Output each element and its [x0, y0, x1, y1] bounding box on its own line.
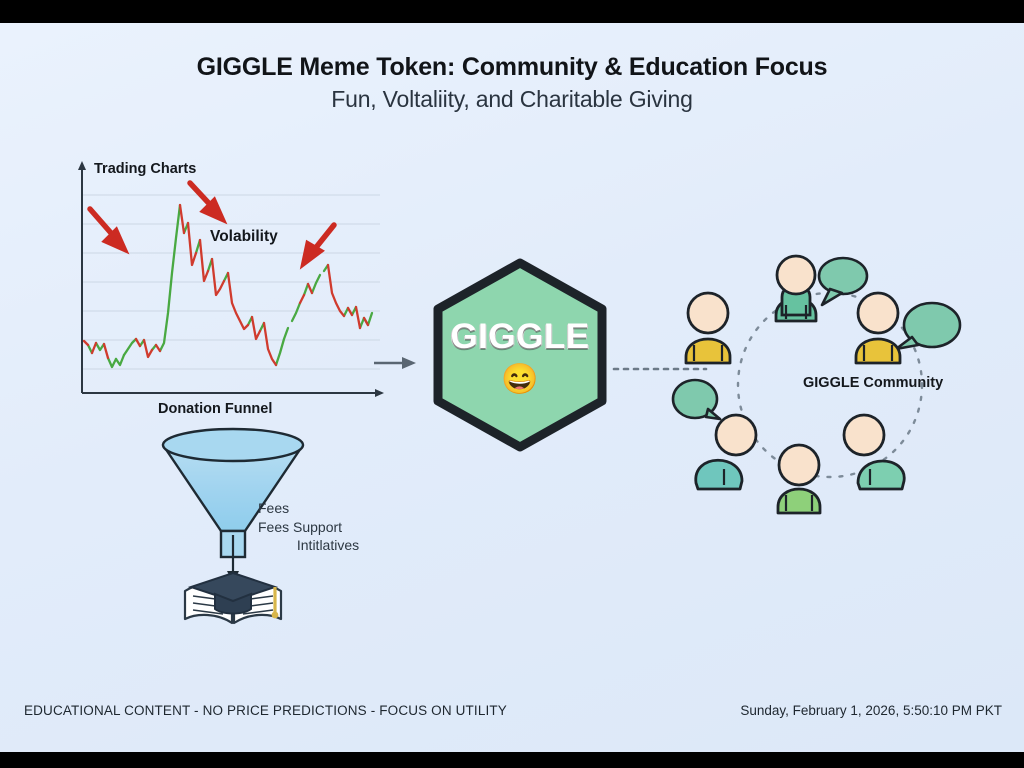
speech-bubble-right: [896, 303, 960, 349]
funnel-note-line-2: Fees Support: [258, 518, 398, 537]
community-member-bottom: [778, 445, 820, 513]
donation-funnel-title: Donation Funnel: [158, 401, 272, 417]
speech-bubble-left: [673, 380, 720, 419]
page-subtitle: Fun, Voltaliity, and Charitable Giving: [0, 86, 1024, 113]
letterbox-bottom-bar: [0, 752, 1024, 768]
community-circle-svg: [660, 253, 1000, 533]
funnel-note-line-1: Fees: [258, 499, 398, 518]
funnel-note-line-3: Intitlatives: [258, 536, 398, 555]
funnel-note-stack: Fees Fees Support Intitlatives: [258, 499, 398, 555]
donation-funnel-panel: Donation Funnel: [145, 401, 405, 621]
red-arrow-left: [90, 209, 124, 249]
speech-bubble-top-right: [819, 258, 867, 305]
infographic-canvas: GIGGLE Meme Token: Community & Education…: [0, 23, 1024, 752]
community-member-lower-right: [844, 415, 904, 489]
grinning-face-emoji: 😄: [420, 365, 620, 395]
community-member-top: [776, 256, 816, 321]
trading-chart-title: Trading Charts: [94, 161, 196, 177]
volatility-label: Volability: [210, 228, 278, 246]
giggle-token-badge[interactable]: GIGGLE 😄: [420, 255, 620, 455]
footer-timestamp: Sunday, February 1, 2026, 5:50:10 PM PKT: [740, 703, 1002, 718]
footer-disclaimer: EDUCATIONAL CONTENT - NO PRICE PREDICTIO…: [24, 703, 507, 718]
arrow-right-icon: [372, 353, 418, 373]
chart-x-axis-arrowhead: [375, 389, 384, 397]
red-arrow-top: [190, 183, 222, 219]
page-title: GIGGLE Meme Token: Community & Education…: [0, 53, 1024, 82]
community-member-lower-left: [696, 415, 756, 489]
community-member-upper-left: [686, 293, 730, 363]
trading-chart-svg: [62, 153, 392, 413]
token-wordmark: GIGGLE: [420, 317, 620, 357]
chart-gridlines: [82, 195, 380, 369]
graduation-cap-book-icon: [185, 573, 281, 623]
community-panel: GIGGLE Community: [660, 253, 1000, 533]
community-member-upper-right: [856, 293, 900, 363]
chart-y-axis-arrowhead: [78, 161, 86, 170]
letterbox-top-bar: [0, 0, 1024, 23]
community-label: GIGGLE Community: [803, 375, 943, 391]
screenshot-stage: GIGGLE Meme Token: Community & Education…: [0, 0, 1024, 768]
trading-chart-panel: Trading Charts Volability: [62, 153, 392, 413]
red-arrow-right: [304, 225, 334, 263]
